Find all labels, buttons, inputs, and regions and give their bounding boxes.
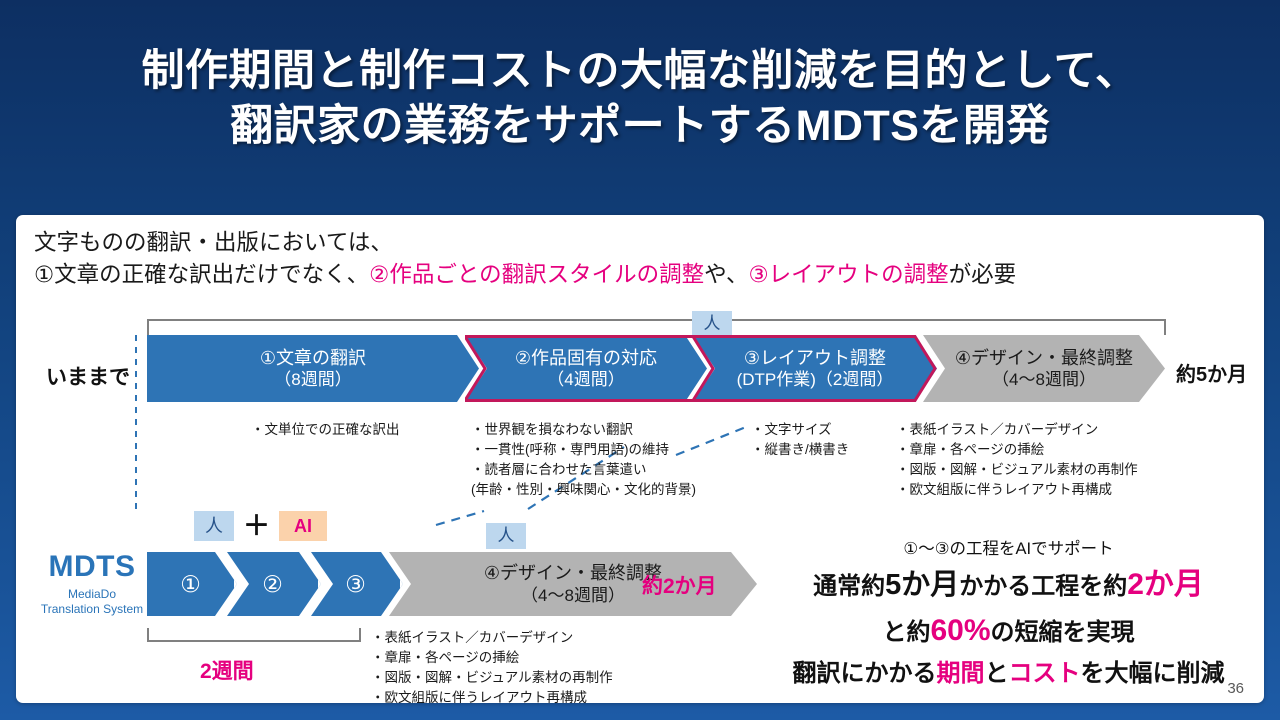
duration-mdts: 約2か月 [642,570,717,600]
intro-l2-a: ①文章の正確な訳出だけでなく、 [34,262,369,287]
flow-step-1[interactable]: ①文章の翻訳 （8週間） [147,335,479,402]
summary-l4-b: と [985,660,1009,687]
slide-title: 制作期間と制作コストの大幅な削減を目的として、 翻訳家の業務をサポートするMDT… [0,44,1280,154]
page-number: 36 [1227,680,1244,697]
flow-step-3[interactable]: ③レイアウト調整 (DTP作業)（2週間） [693,335,937,402]
bracket-mdts-span [147,628,361,642]
flow-step-4-title: ④デザイン・最終調整 [955,347,1133,369]
bullet-item: ・文単位での正確な訳出 [251,420,400,440]
summary-l4-c: を大幅に削減 [1081,660,1225,687]
bullet-item: ・図版・図解・ビジュアル素材の再制作 [371,668,613,688]
summary-l4-a: 翻訳にかかる [793,660,937,687]
intro-l2-c: が必要 [949,262,1017,287]
summary-line-3: と約60%の短縮を実現 [761,608,1256,655]
ai-badge: AI [279,511,327,541]
summary-l3-b: の短縮を実現 [991,619,1135,646]
flow-step-1-title: ①文章の翻訳 [260,347,366,369]
bullet-item: ・世界観を損なわない翻訳 [471,420,696,440]
bullet-item: ・欧文組版に伴うレイアウト再構成 [896,480,1138,500]
bullet-item: ・表紙イラスト／カバーデザイン [896,420,1138,440]
summary-block: ①～③の工程をAIでサポート 通常約5か月かかる工程を約2か月 と約60%の短縮… [761,537,1256,692]
row-label-current: いままで [46,361,130,391]
human-plus-ai-group: 人 ＋ AI [194,511,327,541]
summary-line-2: 通常約5か月かかる工程を約2か月 [761,562,1256,609]
slide: 制作期間と制作コストの大幅な削減を目的として、 翻訳家の業務をサポートするMDT… [0,0,1280,720]
intro-l2-highlight-1: ②作品ごとの翻訳スタイルの調整 [369,262,704,287]
human-badge-ai-group: 人 [194,511,234,541]
flow-current: ①文章の翻訳 （8週間） ②作品固有の対応 （4週間） ③レイアウト調整 (DT… [147,335,1165,402]
intro-l2-highlight-2: ③レイアウトの調整 [748,262,948,287]
mdts-step-3[interactable]: ③ [311,552,403,616]
bullet-item: ・図版・図解・ビジュアル素材の再制作 [896,460,1138,480]
bullet-item: ・読者層に合わせた言葉遣い [471,460,696,480]
bullet-item: ・縦書き/横書き [751,440,849,460]
mdts-brand: MDTS MediaDo Translation System [22,551,162,618]
flow-step-2-sub: （4週間） [547,369,624,390]
bullet-item: ・欧文組版に伴うレイアウト再構成 [371,688,613,703]
summary-line-4: 翻訳にかかる期間とコストを大幅に削減 [761,655,1256,692]
summary-l2-pink: 2か月 [1127,568,1204,601]
summary-l4-pink-2: コスト [1009,660,1081,687]
mdts-sub-line-1: MediaDo [22,587,162,603]
mdts-brand-name: MDTS [22,551,162,583]
intro-l2-b: や、 [704,262,748,287]
mdts-step-2[interactable]: ② [227,552,321,616]
plus-icon: ＋ [243,513,270,540]
bullet-item: ・一貫性(呼称・専門用語)の維持 [471,440,696,460]
flow-step-4[interactable]: ④デザイン・最終調整 （4～8週間） [923,335,1165,402]
mdts-brand-subtitle: MediaDo Translation System [22,587,162,619]
flow-step-2[interactable]: ②作品固有の対応 （4週間） [465,335,707,402]
flow-step-4-sub: （4～8週間） [992,369,1096,390]
summary-l3-a: と約 [882,619,930,646]
title-line-2: 翻訳家の業務をサポートするMDTSを開発 [0,99,1280,154]
intro-line-2: ①文章の正確な訳出だけでなく、②作品ごとの翻訳スタイルの調整や、③レイアウトの調… [34,259,1234,291]
summary-l2-big: 5か月 [885,569,959,601]
bullet-item: ・文字サイズ [751,420,849,440]
bracket-current-total [147,319,1166,335]
flow-step-1-sub: （8週間） [274,369,351,390]
duration-current: 約5か月 [1176,358,1247,387]
title-line-1: 制作期間と制作コストの大幅な削減を目的として、 [0,44,1280,99]
summary-l2-b: かかる工程を約 [959,573,1127,600]
intro-text: 文字ものの翻訳・出版においては、 ①文章の正確な訳出だけでなく、②作品ごとの翻訳… [34,227,1234,291]
summary-l3-pink: 60% [930,614,990,647]
intro-line-1: 文字ものの翻訳・出版においては、 [34,227,1234,259]
bullets-step-4: ・表紙イラスト／カバーデザイン ・章扉・各ページの挿絵 ・図版・図解・ビジュアル… [896,420,1138,500]
bullet-item: ・表紙イラスト／カバーデザイン [371,628,613,648]
mdts-sub-line-2: Translation System [22,602,162,618]
flow-step-3-sub: (DTP作業)（2週間） [737,369,894,390]
bullets-step-2: ・世界観を損なわない翻訳 ・一貫性(呼称・専門用語)の維持 ・読者層に合わせた言… [471,420,696,500]
mdts-step-1[interactable]: ① [147,552,237,616]
mdts-step-1-label: ① [180,571,201,598]
mdts-step-3-label: ③ [345,571,366,598]
bullet-item: ・章扉・各ページの挿絵 [371,648,613,668]
human-badge-middle: 人 [486,523,526,549]
bullet-item: ・章扉・各ページの挿絵 [896,440,1138,460]
flow-step-3-title: ③レイアウト調整 [744,347,886,369]
mdts-step-4-title: ④デザイン・最終調整 [484,562,662,584]
human-badge-top: 人 [692,311,732,337]
summary-line-1: ①～③の工程をAIでサポート [761,537,1256,562]
flow-step-2-title: ②作品固有の対応 [515,347,657,369]
bullet-item: (年齢・性別・興味関心・文化的背景) [471,480,696,500]
bullets-step-1: ・文単位での正確な訳出 [251,420,400,440]
mdts-bracket-label: 2週間 [200,655,254,685]
mdts-step-4-sub: （4～8週間） [521,585,625,606]
bullets-step-3: ・文字サイズ ・縦書き/横書き [751,420,849,460]
bullets-mdts-step-4: ・表紙イラスト／カバーデザイン ・章扉・各ページの挿絵 ・図版・図解・ビジュアル… [371,628,613,703]
mdts-step-2-label: ② [262,571,283,598]
summary-l4-pink-1: 期間 [937,660,985,687]
content-panel: 文字ものの翻訳・出版においては、 ①文章の正確な訳出だけでなく、②作品ごとの翻訳… [16,215,1264,703]
summary-l2-a: 通常約 [813,573,885,600]
